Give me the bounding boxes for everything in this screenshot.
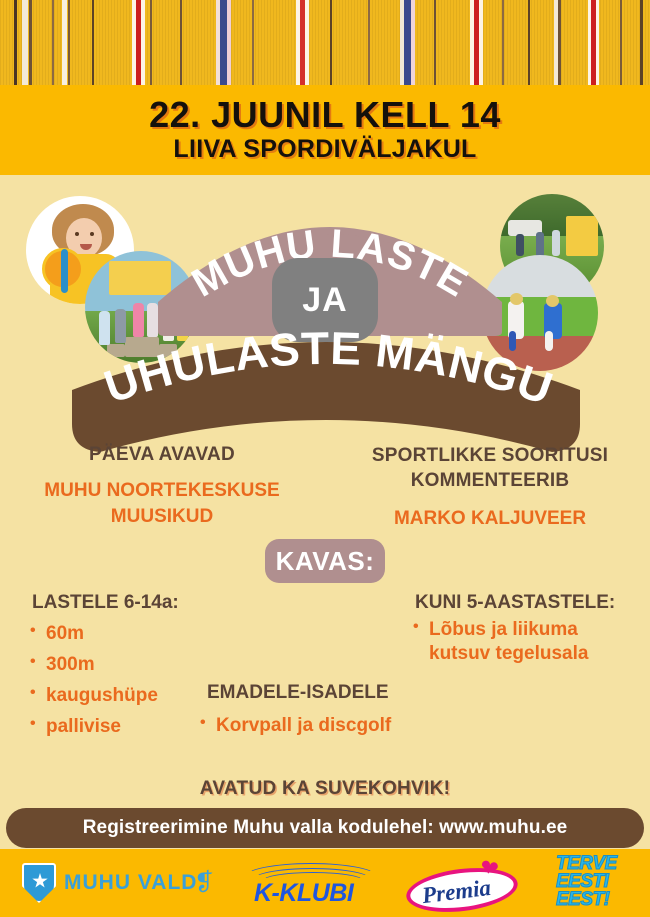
registration-bar[interactable]: Registreerimine Muhu valla kodulehel: ww… — [6, 808, 644, 848]
poster-root: 22. JUUNIL KELL 14 LIIVA SPORDIVÄLJAKUL — [0, 0, 650, 917]
list-item: Lõbus ja liikuma kutsuv tegelusala — [413, 618, 628, 666]
program-list-kuni5: Lõbus ja liikuma kutsuv tegelusala — [413, 618, 628, 678]
sponsor-logo-muhu-vald: MUHU VALD ❡ — [22, 859, 222, 907]
sponsor-logo-k-klubi-text: K-KLUBI — [254, 879, 353, 908]
date-band: 22. JUUNIL KELL 14 LIIVA SPORDIVÄLJAKUL — [0, 85, 650, 175]
heart-icon: ❤ — [478, 857, 504, 881]
summer-cafe-note: AVATUD KA SUVEKOHVIK! — [0, 778, 650, 800]
sponsor-logo-muhu-vald-text: MUHU VALD — [64, 871, 197, 895]
program-heading-lastele: LASTELE 6-14a: — [32, 592, 179, 614]
list-item: pallivise — [30, 717, 158, 736]
credit-right-name: MARKO KALJUVEER — [340, 507, 640, 532]
ribbon-icon: ❡ — [194, 869, 208, 897]
terve-line3: EEST! — [556, 891, 636, 909]
sponsor-logo-k-klubi: K-KLUBI — [240, 857, 390, 909]
list-item: Korvpall ja discgolf — [200, 716, 391, 735]
program-list-emadele: Korvpall ja discgolf — [200, 716, 391, 747]
event-date: 22. JUUNIL KELL 14 — [149, 96, 501, 134]
program-list-lastele: 60m 300m kaugushüpe pallivise — [30, 624, 158, 748]
list-item: kaugushüpe — [30, 686, 158, 705]
title-connector-text: JA — [302, 281, 347, 320]
credit-right-line2: KOMMENTEERIB — [340, 469, 640, 494]
credit-right-line1: SPORTLIKKE SOORITUSI — [340, 444, 640, 469]
program-badge: KAVAS: — [265, 539, 385, 583]
credit-left-heading: PÄEVA AVAVAD — [12, 444, 312, 466]
list-item: 300m — [30, 655, 158, 674]
sponsor-logo-premia: Premia ❤ — [404, 857, 526, 911]
event-venue: LIIVA SPORDIVÄLJAKUL — [173, 136, 476, 164]
credit-right-heading: SPORTLIKKE SOORITUSI KOMMENTEERIB — [340, 444, 640, 493]
title-arch-bottom: MUHULASTE MÄNGUD — [66, 346, 586, 456]
striped-top-band — [0, 0, 650, 85]
credit-left-line2: MUUSIKUD — [12, 504, 312, 530]
program-badge-label: KAVAS: — [276, 546, 375, 577]
program-heading-kuni5: KUNI 5-AASTASTELE: — [415, 592, 615, 614]
credit-left-line1: MUHU NOORTEKESKUSE — [12, 478, 312, 504]
program-heading-emadele: EMADELE-ISADELE — [207, 682, 389, 704]
sponsor-logo-terve-eesti: TERVE EESTI EEST! — [556, 855, 636, 913]
shield-flower-icon — [22, 863, 56, 903]
credit-left-names: MUHU NOORTEKESKUSE MUUSIKUD — [12, 478, 312, 529]
registration-text: Registreerimine Muhu valla kodulehel: ww… — [83, 817, 568, 839]
list-item: 60m — [30, 624, 158, 643]
sponsor-logo-strip: MUHU VALD ❡ K-KLUBI Premia ❤ TERVE EESTI… — [0, 849, 650, 917]
